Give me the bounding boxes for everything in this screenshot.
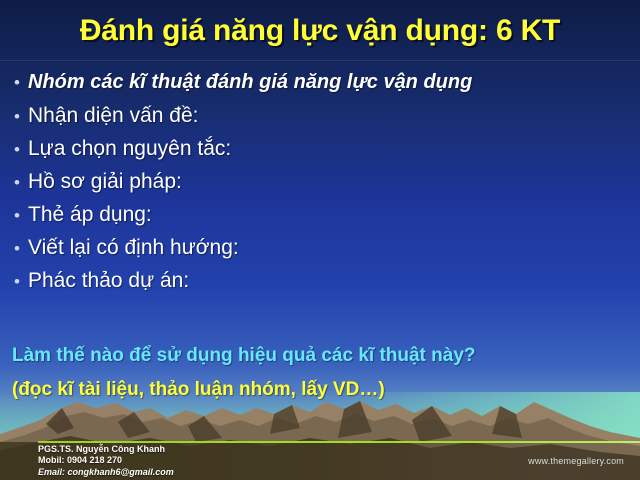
callout-question: Làm thế nào để sử dụng hiệu quả các kĩ t… (12, 345, 476, 367)
bullet-marker-icon: • (6, 240, 28, 257)
list-item-label: Lựa chọn nguyên tắc: (28, 138, 231, 159)
list-item-label: Nhóm các kĩ thuật đánh giá năng lực vận … (28, 72, 472, 92)
footer-mobile: Mobil: 0904 218 270 (38, 455, 174, 467)
list-item: • Nhận diện vấn đề: (6, 105, 634, 138)
list-item: • Phác thảo dự án: (6, 270, 634, 303)
bullet-marker-icon: • (6, 174, 28, 191)
slide-title: Đánh giá năng lực vận dụng: 6 KT (0, 14, 640, 48)
list-item-label: Viết lại có định hướng: (28, 237, 239, 258)
presentation-slide: Đánh giá năng lực vận dụng: 6 KT • Nhóm … (0, 0, 640, 480)
title-divider (0, 60, 640, 61)
list-item-label: Phác thảo dự án: (28, 270, 189, 291)
list-item: • Hồ sơ giải pháp: (6, 171, 634, 204)
bullet-marker-icon: • (6, 207, 28, 224)
list-item-label: Nhận diện vấn đề: (28, 105, 198, 126)
list-item: • Nhóm các kĩ thuật đánh giá năng lực vậ… (6, 72, 634, 105)
footer-presenter-name: PGS.TS. Nguyễn Công Khanh (38, 444, 174, 456)
list-item: • Lựa chọn nguyên tắc: (6, 138, 634, 171)
footer-website-link[interactable]: www.themegallery.com (528, 456, 624, 466)
bullet-marker-icon: • (6, 108, 28, 125)
bullet-marker-icon: • (6, 141, 28, 158)
callout-note: (đọc kĩ tài liệu, thảo luận nhóm, lấy VD… (12, 379, 385, 401)
list-item-label: Thẻ áp dụng: (28, 204, 152, 225)
footer-contact-block: PGS.TS. Nguyễn Công Khanh Mobil: 0904 21… (38, 444, 174, 479)
list-item-label: Hồ sơ giải pháp: (28, 171, 182, 192)
bullet-marker-icon: • (6, 74, 28, 91)
bullet-marker-icon: • (6, 273, 28, 290)
list-item: • Viết lại có định hướng: (6, 237, 634, 270)
list-item: • Thẻ áp dụng: (6, 204, 634, 237)
footer-email: Email: congkhanh6@gmail.com (38, 467, 174, 479)
bullet-list: • Nhóm các kĩ thuật đánh giá năng lực vậ… (6, 72, 634, 303)
